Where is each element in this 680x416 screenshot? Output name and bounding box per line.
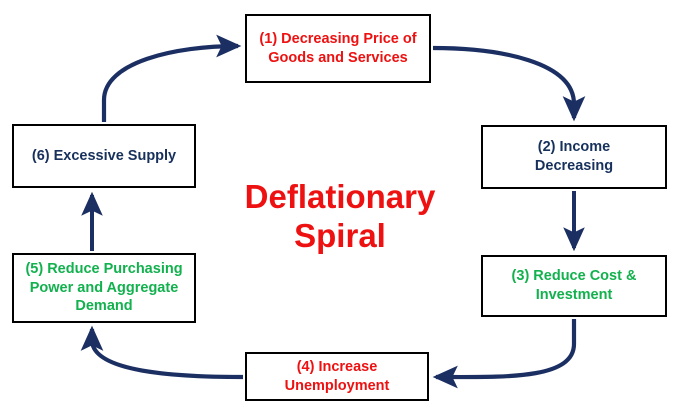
node-increase-unemployment[interactable]: (4) Increase Unemployment xyxy=(245,352,429,401)
connector-1-to-2 xyxy=(433,48,574,118)
node-reduce-purchasing-power[interactable]: (5) Reduce Purchasing Power and Aggregat… xyxy=(12,253,196,323)
node-income-decreasing[interactable]: (2) Income Decreasing xyxy=(481,125,667,189)
node-4-line-2: Unemployment xyxy=(285,377,390,396)
diagram-title-line-2: Spiral xyxy=(206,217,474,256)
node-3-line-2: Investment xyxy=(536,286,613,305)
node-3-line-1: (3) Reduce Cost & xyxy=(512,267,637,286)
node-1-line-1: (1) Decreasing Price of xyxy=(259,30,416,49)
connector-6-to-1 xyxy=(104,46,238,122)
node-reduce-cost-investment[interactable]: (3) Reduce Cost & Investment xyxy=(481,255,667,317)
diagram-title: Deflationary Spiral xyxy=(206,178,474,256)
node-1-line-2: Goods and Services xyxy=(268,49,407,68)
node-4-line-1: (4) Increase xyxy=(297,358,378,377)
connector-4-to-5 xyxy=(92,329,243,377)
deflationary-spiral-diagram: (1) Decreasing Price of Goods and Servic… xyxy=(0,0,680,416)
connector-3-to-4 xyxy=(436,319,574,377)
node-5-line-2: Power and Aggregate xyxy=(30,279,179,298)
node-2-line-1: (2) Income xyxy=(538,138,611,157)
node-6-line-1: (6) Excessive Supply xyxy=(32,147,176,166)
node-5-line-1: (5) Reduce Purchasing xyxy=(25,260,182,279)
node-excessive-supply[interactable]: (6) Excessive Supply xyxy=(12,124,196,188)
node-2-line-2: Decreasing xyxy=(535,157,613,176)
node-5-line-3: Demand xyxy=(75,297,132,316)
diagram-title-line-1: Deflationary xyxy=(206,178,474,217)
node-decreasing-price[interactable]: (1) Decreasing Price of Goods and Servic… xyxy=(245,14,431,83)
